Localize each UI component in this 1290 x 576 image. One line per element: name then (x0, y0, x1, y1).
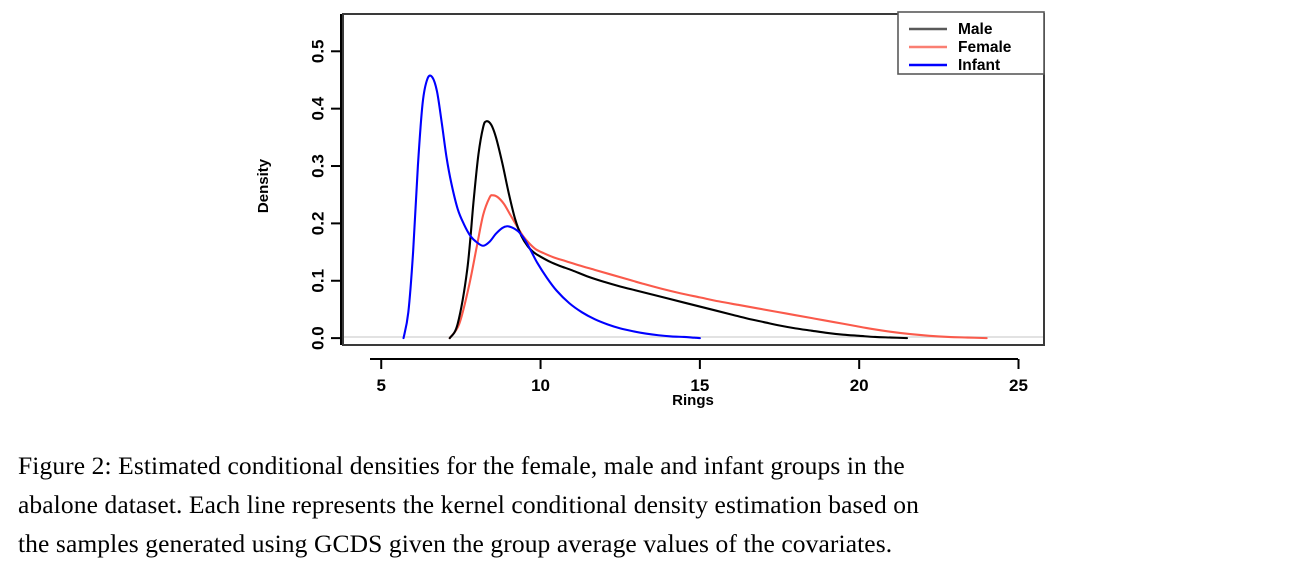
figure-caption: Figure 2: Estimated conditional densitie… (18, 446, 1272, 563)
legend-label-male: Male (958, 21, 993, 38)
y-axis-title: Density (255, 158, 272, 213)
x-axis: 510152025 Rings (370, 359, 1028, 409)
x-tick-label: 25 (1009, 376, 1028, 395)
figure-container: 0.00.10.20.30.40.5 Density 510152025 Rin… (0, 0, 1290, 430)
y-axis-tick-labels: 0.00.10.20.30.40.5 (308, 39, 327, 349)
x-tick-label: 10 (531, 376, 550, 395)
x-tick-label: 5 (377, 376, 386, 395)
legend-label-female: Female (958, 39, 1012, 56)
y-axis: 0.00.10.20.30.40.5 Density (255, 14, 341, 350)
y-tick-label: 0.5 (308, 39, 327, 63)
y-tick-label: 0.2 (308, 212, 327, 236)
caption-line: Figure 2: Estimated conditional densitie… (18, 446, 1272, 485)
x-axis-ticks (381, 359, 1018, 369)
density-plot: 0.00.10.20.30.40.5 Density 510152025 Rin… (0, 0, 1290, 430)
legend-label-infant: Infant (958, 57, 1000, 74)
y-tick-label: 0.1 (308, 269, 327, 293)
caption-line: abalone dataset. Each line represents th… (18, 485, 1272, 524)
y-tick-label: 0.3 (308, 154, 327, 178)
y-axis-ticks (331, 51, 341, 338)
caption-line: the samples generated using GCDS given t… (18, 524, 1272, 563)
chart-legend: MaleFemaleInfant (898, 12, 1044, 74)
x-tick-label: 20 (850, 376, 869, 395)
y-tick-label: 0.4 (308, 96, 327, 120)
y-tick-label: 0.0 (308, 326, 327, 350)
x-axis-title: Rings (672, 392, 714, 409)
